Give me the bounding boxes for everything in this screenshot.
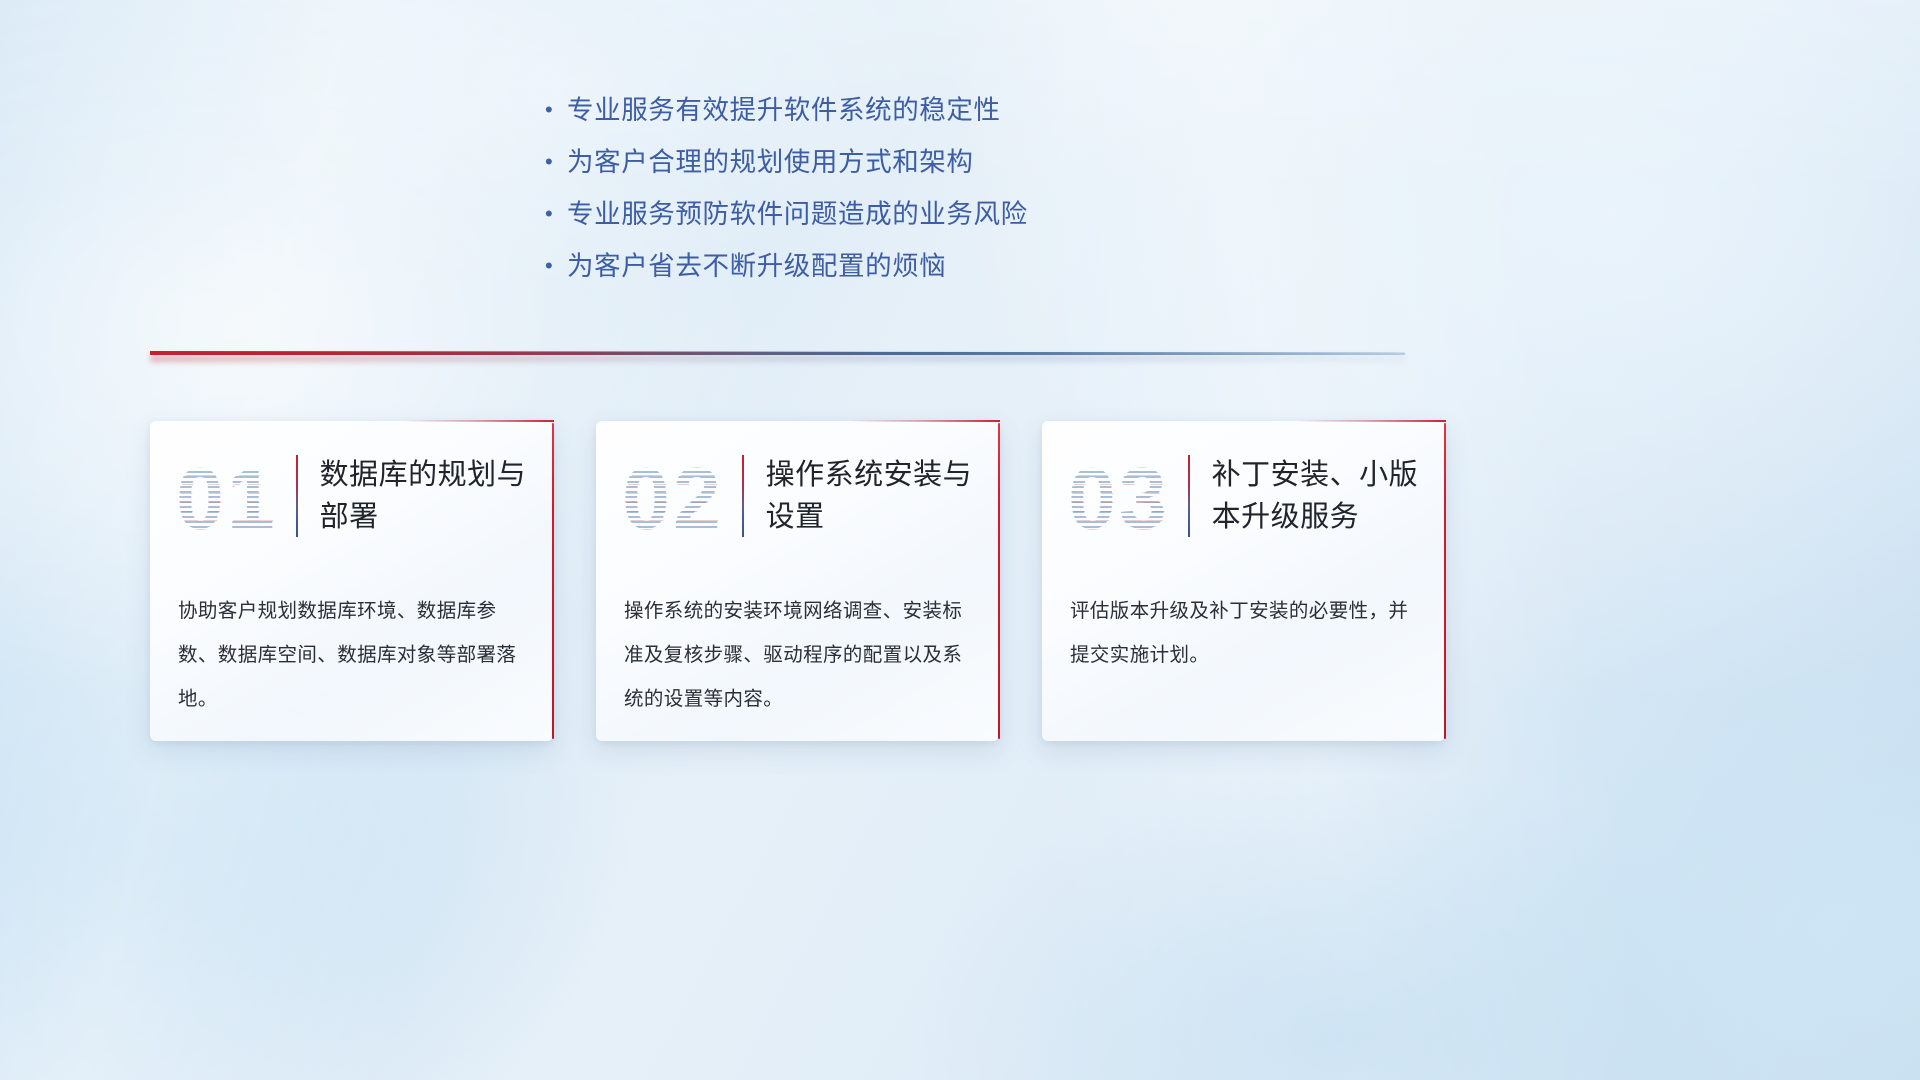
gradient-divider: [150, 347, 1405, 363]
bullet-text: 专业服务预防软件问题造成的业务风险: [567, 196, 1028, 232]
bullet-marker-icon: •: [545, 92, 567, 128]
bullet-marker-icon: •: [545, 248, 567, 284]
list-item: • 专业服务有效提升软件系统的稳定性: [545, 92, 1245, 144]
card-description: 操作系统的安装环境网络调查、安装标准及复核步骤、驱动程序的配置以及系统的设置等内…: [596, 571, 999, 721]
card-number: 02: [622, 456, 724, 542]
list-item: • 专业服务预防软件问题造成的业务风险: [545, 196, 1245, 248]
service-card[interactable]: 02 操作系统安装与设置 操作系统的安装环境网络调查、安装标准及复核步骤、驱动程…: [596, 421, 999, 741]
bullet-text: 为客户省去不断升级配置的烦恼: [567, 248, 946, 284]
card-header: 02 操作系统安装与设置: [596, 421, 999, 571]
service-card[interactable]: 01 数据库的规划与部署 协助客户规划数据库环境、数据库参数、数据库空间、数据库…: [150, 421, 553, 741]
bullet-marker-icon: •: [545, 196, 567, 232]
divider-glow: [150, 355, 1405, 362]
card-title: 数据库的规划与部署: [320, 454, 531, 538]
service-cards: 01 数据库的规划与部署 协助客户规划数据库环境、数据库参数、数据库空间、数据库…: [150, 421, 1446, 741]
service-card[interactable]: 03 补丁安装、小版本升级服务 评估版本升级及补丁安装的必要性，并提交实施计划。: [1042, 421, 1445, 741]
card-number: 01: [176, 456, 278, 542]
slide-root: • 专业服务有效提升软件系统的稳定性 • 为客户合理的规划使用方式和架构 • 专…: [0, 0, 1920, 1080]
card-divider-rule: [1188, 455, 1190, 537]
bullet-text: 为客户合理的规划使用方式和架构: [567, 144, 974, 180]
card-title: 补丁安装、小版本升级服务: [1212, 454, 1423, 538]
card-divider-rule: [296, 455, 298, 537]
card-header: 03 补丁安装、小版本升级服务: [1042, 421, 1445, 571]
bullet-marker-icon: •: [545, 144, 567, 180]
benefits-bullet-list: • 专业服务有效提升软件系统的稳定性 • 为客户合理的规划使用方式和架构 • 专…: [545, 92, 1245, 300]
card-description: 评估版本升级及补丁安装的必要性，并提交实施计划。: [1042, 571, 1445, 677]
card-description: 协助客户规划数据库环境、数据库参数、数据库空间、数据库对象等部署落地。: [150, 571, 553, 721]
card-divider-rule: [742, 455, 744, 537]
card-title: 操作系统安装与设置: [766, 454, 977, 538]
list-item: • 为客户省去不断升级配置的烦恼: [545, 248, 1245, 300]
card-header: 01 数据库的规划与部署: [150, 421, 553, 571]
bullet-text: 专业服务有效提升软件系统的稳定性: [567, 92, 1001, 128]
divider-line: [150, 351, 1405, 355]
card-number: 03: [1068, 456, 1170, 542]
list-item: • 为客户合理的规划使用方式和架构: [545, 144, 1245, 196]
